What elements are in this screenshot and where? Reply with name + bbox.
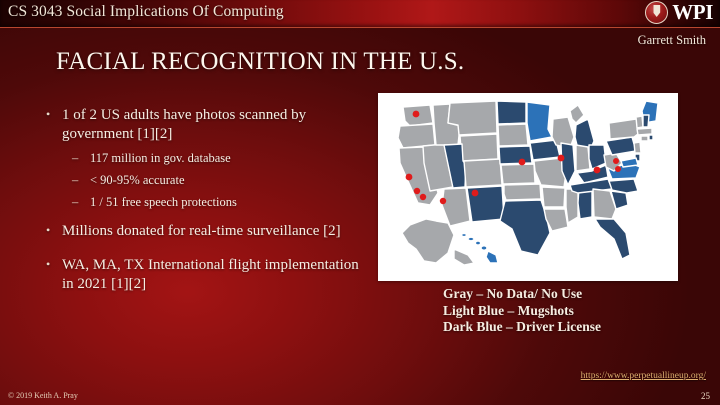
state-NH: [643, 115, 649, 127]
marker-dot: [558, 155, 565, 162]
state-VT: [636, 116, 643, 128]
slide-number: 25: [701, 391, 710, 401]
us-map-image: [378, 93, 678, 281]
marker-dot: [440, 198, 446, 204]
list-item: 1 of 2 US adults have photos scanned by …: [44, 106, 364, 144]
list-item: 117 million in gov. database: [44, 150, 364, 166]
marker-dot: [472, 190, 479, 197]
state-ND: [497, 101, 526, 124]
marker-dot: [615, 166, 621, 172]
state-IN: [576, 145, 590, 171]
state-CO: [464, 159, 502, 187]
map-legend: Gray – No Data/ No Use Light Blue – Mugs…: [443, 286, 601, 336]
page-title: FACIAL RECOGNITION IN THE U.S.: [56, 48, 464, 76]
author-name: Garrett Smith: [638, 33, 706, 48]
bullet-list: 1 of 2 US adults have photos scanned by …: [44, 106, 364, 297]
marker-dot: [413, 111, 420, 118]
state-WY: [460, 134, 498, 161]
state-OR: [398, 124, 435, 148]
state-shapes: [398, 101, 658, 265]
legend-item-gray: Gray – No Data/ No Use: [443, 286, 601, 303]
state-NJ: [634, 142, 641, 153]
marker-dot: [519, 159, 526, 166]
state-OK: [504, 184, 541, 200]
state-CT: [641, 136, 648, 141]
source-url-link[interactable]: https://www.perpetuallineup.org/: [581, 371, 706, 381]
list-item: < 90-95% accurate: [44, 172, 364, 188]
marker-dot: [594, 167, 601, 174]
spacer: [44, 210, 364, 222]
wpi-logo-text: WPI: [672, 2, 713, 23]
state-NE: [499, 146, 532, 164]
state-MS: [566, 189, 578, 223]
state-NC: [609, 179, 638, 193]
state-KS: [501, 164, 535, 184]
state-SD: [498, 124, 528, 146]
state-MN: [527, 102, 552, 141]
wpi-logo: WPI: [645, 1, 713, 24]
copyright-notice: © 2019 Keith A. Pray: [8, 391, 78, 400]
marker-dot: [406, 174, 413, 181]
state-RI: [649, 135, 653, 140]
legend-item-light-blue: Light Blue – Mugshots: [443, 303, 601, 320]
marker-dot: [420, 194, 426, 200]
list-item: 1 / 51 free speech protections: [44, 194, 364, 210]
legend-item-dark-blue: Dark Blue – Driver License: [443, 319, 601, 336]
wpi-seal-icon: [645, 1, 668, 24]
spacer: [44, 244, 364, 256]
presentation-slide: CS 3043 Social Implications Of Computing…: [0, 0, 720, 405]
course-title: CS 3043 Social Implications Of Computing: [8, 3, 284, 21]
state-PA: [606, 137, 636, 155]
us-map-svg: [378, 93, 678, 281]
marker-dot: [613, 158, 619, 164]
state-MA: [637, 128, 652, 135]
marker-dot: [414, 188, 420, 194]
list-item: WA, MA, TX International flight implemen…: [44, 256, 364, 294]
state-AR: [542, 187, 565, 207]
list-item: Millions donated for real-time surveilla…: [44, 222, 364, 241]
